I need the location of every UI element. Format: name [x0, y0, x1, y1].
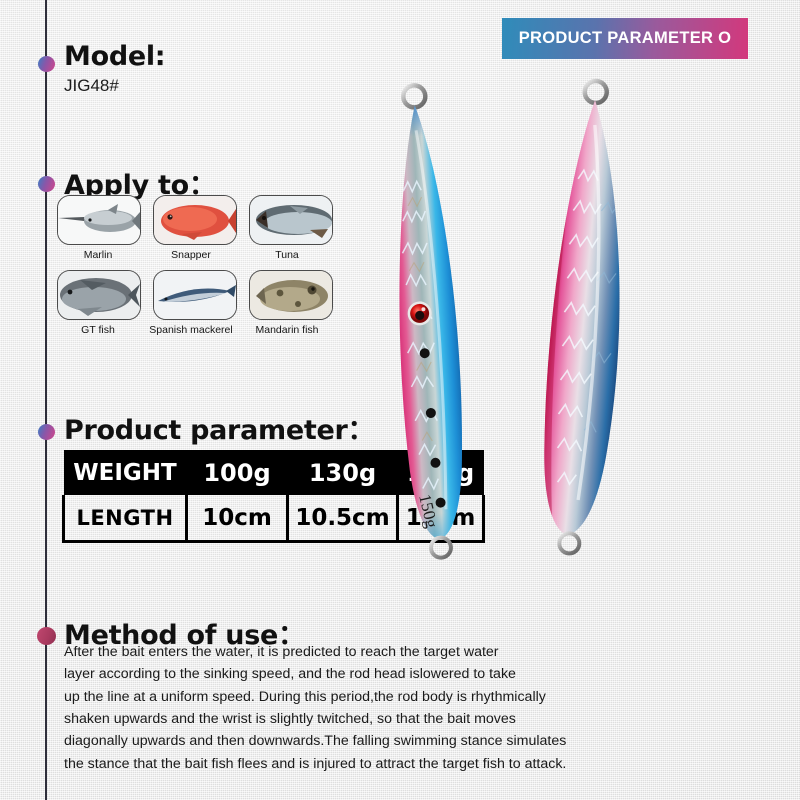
section-marker-apply-to	[38, 176, 55, 192]
product-images: 150g	[380, 70, 780, 570]
method-of-use-text: After the bait enters the water, it is p…	[64, 645, 624, 779]
method-line: up the line at a uniform speed. During t…	[64, 690, 624, 705]
table-cell: 10cm	[187, 495, 288, 542]
method-line: After the bait enters the water, it is p…	[64, 645, 624, 660]
model-value: JIG48#	[64, 76, 119, 96]
section-marker-method-of-use	[37, 627, 56, 645]
section-marker-model	[38, 56, 55, 72]
product-parameter-banner: PRODUCT PARAMETER O	[502, 18, 748, 59]
product-detail-page: PRODUCT PARAMETER O Model: JIG48# Apply …	[0, 0, 800, 800]
banner-label: PRODUCT PARAMETER O	[519, 29, 732, 48]
fish-item-snapper: Snapper	[153, 195, 235, 261]
fish-label: Snapper	[147, 249, 235, 261]
blue-pink-metal-jig-lure: 150g	[380, 83, 492, 561]
fish-row: Marlin Snapper	[57, 195, 347, 261]
fish-item-tuna: Tuna	[249, 195, 331, 261]
tuna-fish-thumbnail	[249, 195, 333, 245]
fish-label: Spanish mackerel	[147, 324, 235, 336]
fish-label: Marlin	[57, 249, 139, 261]
method-line: diagonally upwards and then downwards.Th…	[64, 734, 624, 749]
snapper-fish-thumbnail	[153, 195, 237, 245]
table-row-header: LENGTH	[64, 495, 187, 542]
product-parameter-heading: Product parameter：	[64, 408, 374, 447]
timeline-rail	[45, 0, 47, 800]
marlin-fish-thumbnail	[57, 195, 141, 245]
fish-label: Mandarin fish	[243, 324, 331, 336]
page-title-model: Model:	[64, 41, 165, 72]
fish-label: GT fish	[57, 324, 139, 336]
fish-item-spanish-mackerel: Spanish mackerel	[153, 270, 235, 336]
fish-item-gt-fish: GT fish	[57, 270, 139, 336]
fish-item-mandarin-fish: Mandarin fish	[249, 270, 331, 336]
fish-label: Tuna	[243, 249, 331, 261]
section-marker-product-parameter	[38, 424, 55, 440]
apply-to-fish-grid: Marlin Snapper	[57, 195, 347, 345]
mandarin-fish-thumbnail	[249, 270, 333, 320]
spanish-mackerel-thumbnail	[153, 270, 237, 320]
gt-fish-thumbnail	[57, 270, 141, 320]
table-cell: 100g	[187, 450, 288, 495]
fish-row: GT fish Spanish mackerel	[57, 270, 347, 336]
method-line: the stance that the bait fish flees and …	[64, 757, 624, 772]
method-line: layer according to the sinking speed, an…	[64, 667, 624, 682]
method-line: shaken upwards and the wrist is slightly…	[64, 712, 624, 727]
table-row-header: WEIGHT	[64, 450, 187, 495]
fish-item-marlin: Marlin	[57, 195, 139, 261]
pink-holographic-metal-jig-lure	[532, 79, 642, 556]
